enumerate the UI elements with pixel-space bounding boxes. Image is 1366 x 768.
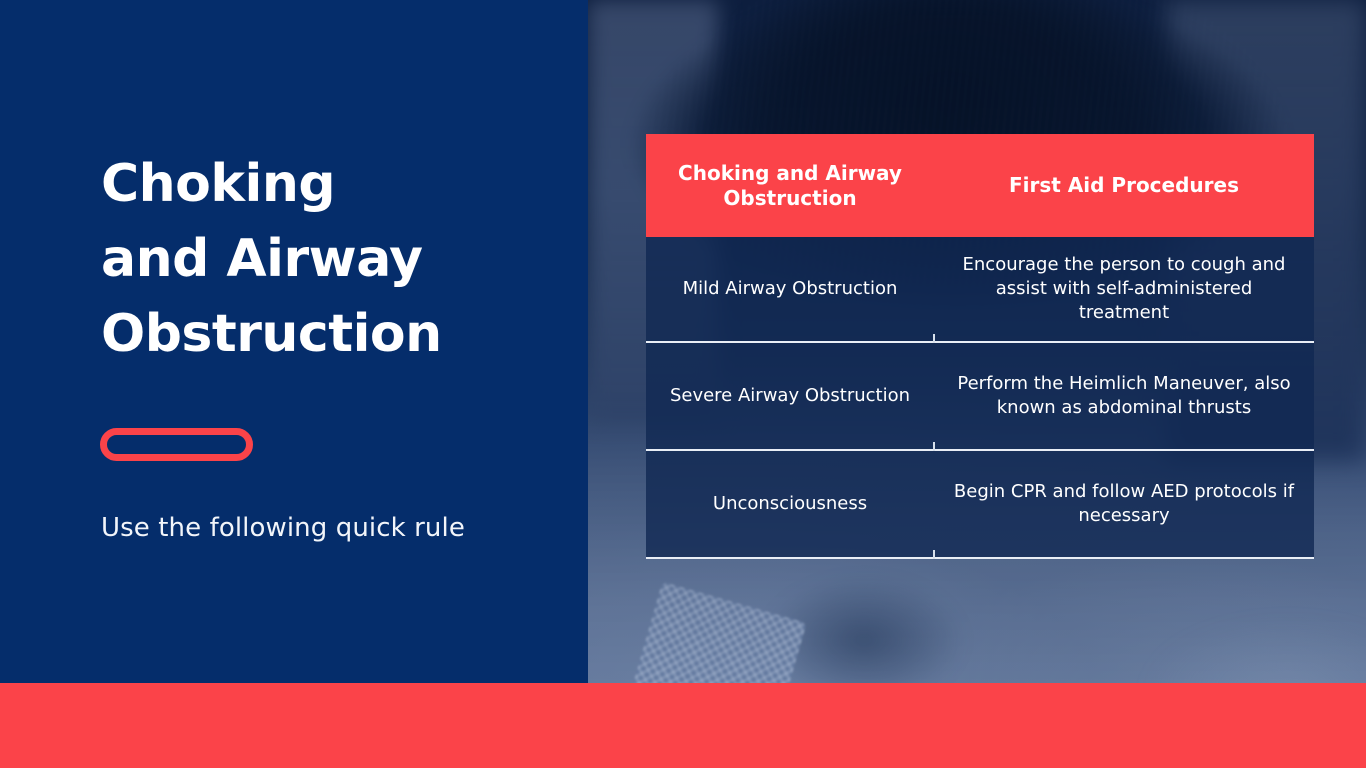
footer-bar <box>0 683 1366 768</box>
column-divider-tick <box>933 550 935 559</box>
cell-procedure: Perform the Heimlich Maneuver, also know… <box>934 343 1314 449</box>
left-title-panel: Choking and Airway Obstruction Use the f… <box>0 0 588 683</box>
column-header-procedure: First Aid Procedures <box>934 134 1314 237</box>
subtitle-text: Use the following quick rule <box>101 513 465 543</box>
table-row: Unconsciousness Begin CPR and follow AED… <box>646 451 1314 559</box>
table-header-row: Choking and Airway Obstruction First Aid… <box>646 134 1314 237</box>
first-aid-table: Choking and Airway Obstruction First Aid… <box>646 134 1314 559</box>
pill-divider-shape <box>100 428 253 461</box>
column-divider-tick <box>933 442 935 451</box>
cell-condition: Severe Airway Obstruction <box>646 343 934 449</box>
cell-condition: Unconsciousness <box>646 451 934 557</box>
title-line-2: and Airway <box>101 222 541 297</box>
table-body: Mild Airway Obstruction Encourage the pe… <box>646 237 1314 559</box>
cell-procedure: Encourage the person to cough and assist… <box>934 237 1314 341</box>
cell-condition: Mild Airway Obstruction <box>646 237 934 341</box>
column-divider-tick <box>933 334 935 343</box>
table-row: Mild Airway Obstruction Encourage the pe… <box>646 237 1314 343</box>
column-header-condition: Choking and Airway Obstruction <box>646 134 934 237</box>
page-title: Choking and Airway Obstruction <box>101 147 541 372</box>
slide-root: Choking and Airway Obstruction Use the f… <box>0 0 1366 768</box>
table-row: Severe Airway Obstruction Perform the He… <box>646 343 1314 451</box>
title-line-3: Obstruction <box>101 297 541 372</box>
title-line-1: Choking <box>101 147 541 222</box>
cell-procedure: Begin CPR and follow AED protocols if ne… <box>934 451 1314 557</box>
